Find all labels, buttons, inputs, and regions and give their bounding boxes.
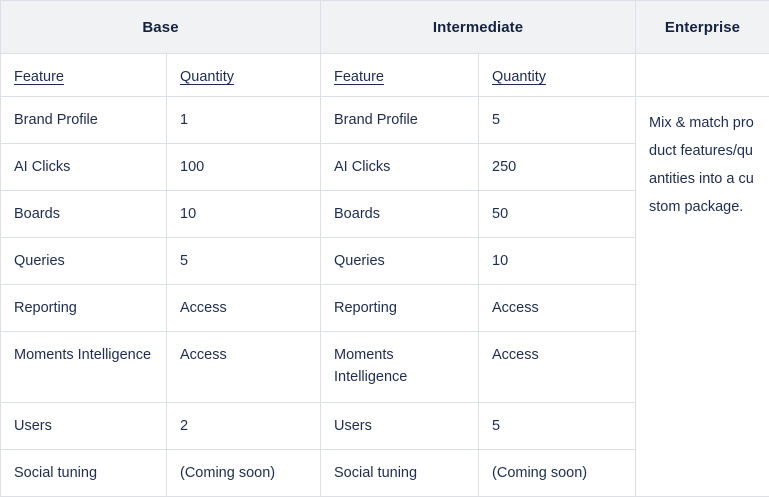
subheader-intermediate-quantity-label: Quantity [492, 69, 546, 85]
cell-intermediate-feature: AI Clicks [321, 144, 479, 191]
subheader-intermediate-feature: Feature [321, 54, 479, 97]
cell-base-quantity: 5 [167, 238, 321, 285]
cell-enterprise-description: Mix & match product features/quantities … [636, 97, 769, 497]
subheader-enterprise-empty [636, 54, 769, 97]
cell-intermediate-feature: Social tuning [321, 450, 479, 497]
cell-base-feature: Users [1, 403, 167, 450]
cell-base-feature: Brand Profile [1, 97, 167, 144]
cell-base-quantity: Access [167, 332, 321, 403]
cell-base-quantity: Access [167, 285, 321, 332]
cell-intermediate-feature: Queries [321, 238, 479, 285]
cell-base-quantity: 100 [167, 144, 321, 191]
cell-intermediate-feature: Users [321, 403, 479, 450]
cell-base-feature: Moments Intelligence [1, 332, 167, 403]
cell-intermediate-quantity: (Coming soon) [479, 450, 636, 497]
cell-intermediate-feature: Brand Profile [321, 97, 479, 144]
pricing-comparison-table: Base Intermediate Enterprise Feature Qua… [0, 0, 769, 497]
cell-base-quantity: (Coming soon) [167, 450, 321, 497]
cell-intermediate-quantity: 5 [479, 403, 636, 450]
tier-header-base: Base [1, 1, 321, 54]
subheader-base-quantity: Quantity [167, 54, 321, 97]
cell-intermediate-feature: Reporting [321, 285, 479, 332]
cell-intermediate-feature: Moments Intelligence [321, 332, 479, 403]
subheader-base-feature-label: Feature [14, 69, 64, 85]
cell-base-feature: AI Clicks [1, 144, 167, 191]
cell-base-feature: Social tuning [1, 450, 167, 497]
cell-intermediate-quantity: Access [479, 332, 636, 403]
subheader-intermediate-quantity: Quantity [479, 54, 636, 97]
cell-base-quantity: 1 [167, 97, 321, 144]
tier-group-header-row: Base Intermediate Enterprise [1, 1, 769, 54]
subheader-base-feature: Feature [1, 54, 167, 97]
cell-intermediate-feature: Boards [321, 191, 479, 238]
subheader-base-quantity-label: Quantity [180, 69, 234, 85]
cell-base-feature: Queries [1, 238, 167, 285]
subheader-intermediate-feature-label: Feature [334, 69, 384, 85]
cell-base-quantity: 10 [167, 191, 321, 238]
cell-base-quantity: 2 [167, 403, 321, 450]
tier-header-enterprise: Enterprise [636, 1, 769, 54]
table-row: Brand Profile 1 Brand Profile 5 Mix & ma… [1, 97, 769, 144]
table-body: Feature Quantity Feature Quantity Brand … [1, 54, 769, 497]
cell-intermediate-quantity: Access [479, 285, 636, 332]
cell-base-feature: Reporting [1, 285, 167, 332]
cell-intermediate-quantity: 250 [479, 144, 636, 191]
cell-intermediate-quantity: 50 [479, 191, 636, 238]
cell-intermediate-quantity: 5 [479, 97, 636, 144]
pricing-comparison-table-container: Base Intermediate Enterprise Feature Qua… [0, 0, 769, 481]
table-head: Base Intermediate Enterprise [1, 1, 769, 54]
cell-intermediate-quantity: 10 [479, 238, 636, 285]
cell-base-feature: Boards [1, 191, 167, 238]
tier-header-intermediate: Intermediate [321, 1, 636, 54]
column-subheader-row: Feature Quantity Feature Quantity [1, 54, 769, 97]
